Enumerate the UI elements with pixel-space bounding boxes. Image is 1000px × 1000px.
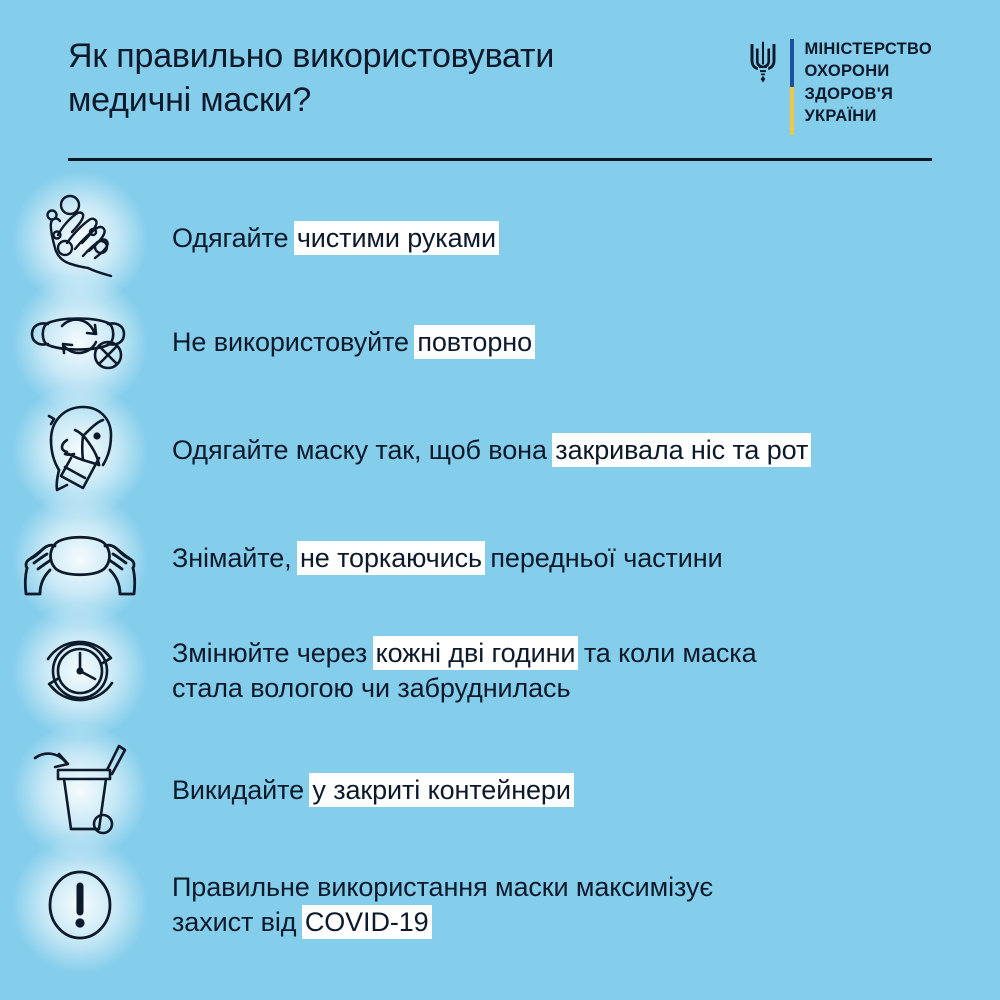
tip-line-1: Змінюйте через кожні дві години та коли … <box>172 636 970 671</box>
face-with-mask-icon <box>25 396 135 506</box>
no-reuse-mask-icon <box>20 301 140 385</box>
page-title: Як правильно використовувати медичні мас… <box>68 34 708 122</box>
list-item: Викидайте у закриті контейнери <box>0 732 1000 850</box>
tip-text-plain: Не використовуйте <box>172 327 416 357</box>
tip-text-highlight: не торкаючись <box>299 543 483 573</box>
tip-text-highlight: COVID-19 <box>304 907 430 937</box>
tip-line-1: Одягайте чистими руками <box>172 221 970 256</box>
tip-text-plain: Змінюйте через <box>172 638 375 668</box>
tip-line-2: захист від COVID-19 <box>172 905 970 940</box>
icon-cell <box>0 610 160 732</box>
tip-text-plain-tail: та коли маска <box>576 638 756 668</box>
tip-text-highlight: кожні дві години <box>375 638 577 668</box>
ukraine-trident-icon <box>746 38 780 84</box>
list-item: Правильне використання маски максимізує … <box>0 850 1000 960</box>
tip-text-plain-tail: передньої частини <box>483 543 723 573</box>
text-cell: Правильне використання маски максимізує … <box>160 870 1000 940</box>
hands-removing-mask-icon <box>19 514 141 604</box>
tip-text-highlight: повторно <box>416 327 533 357</box>
icon-cell <box>0 850 160 960</box>
list-item: Одягайте маску так, щоб вона закривала н… <box>0 393 1000 508</box>
ministry-line-2: ОХОРОНИ <box>804 60 932 82</box>
trash-bin-icon <box>25 736 135 846</box>
exclamation-circle-icon <box>30 855 130 955</box>
tips-list: Одягайте чистими руками <box>0 185 1000 960</box>
ministry-line-1: МІНІСТЕРСТВО <box>804 38 932 60</box>
tip-text-highlight: чистими руками <box>296 223 497 253</box>
list-item: Одягайте чистими руками <box>0 185 1000 293</box>
icon-cell <box>0 508 160 610</box>
ministry-line-4: УКРАЇНИ <box>804 105 932 127</box>
text-cell: Змінюйте через кожні дві години та коли … <box>160 636 1000 706</box>
text-cell: Одягайте маску так, щоб вона закривала н… <box>160 433 1000 468</box>
text-cell: Викидайте у закриті контейнери <box>160 773 1000 808</box>
tip-line-1: Одягайте маску так, щоб вона закривала н… <box>172 433 970 468</box>
tip-text-plain: захист від <box>172 907 304 937</box>
infographic-page: Як правильно використовувати медичні мас… <box>0 0 1000 1000</box>
clock-rotate-icon <box>26 619 134 723</box>
icon-cell <box>0 293 160 393</box>
text-cell: Одягайте чистими руками <box>160 221 1000 256</box>
text-cell: Не використовуйте повторно <box>160 325 1000 360</box>
list-item: Не використовуйте повторно <box>0 293 1000 393</box>
tip-text-plain: Викидайте <box>172 775 311 805</box>
tip-line-1: Не використовуйте повторно <box>172 325 970 360</box>
washing-hands-icon <box>26 191 134 287</box>
tip-text-plain: Одягайте маску так, щоб вона <box>172 435 554 465</box>
header: Як правильно використовувати медичні мас… <box>68 34 932 144</box>
tip-text-highlight: закривала ніс та рот <box>554 435 809 465</box>
ministry-name: МІНІСТЕРСТВО ОХОРОНИ ЗДОРОВ'Я УКРАЇНИ <box>804 38 932 128</box>
tip-text-plain: Одягайте <box>172 223 296 253</box>
tip-line-1: Правильне використання маски максимізує <box>172 870 970 905</box>
ministry-line-3: ЗДОРОВ'Я <box>804 83 932 105</box>
icon-cell <box>0 393 160 508</box>
tip-line-1: Знімайте, не торкаючись передньої частин… <box>172 541 970 576</box>
tip-text-highlight: у закриті контейнери <box>311 775 571 805</box>
tip-text-plain: Знімайте, <box>172 543 299 573</box>
header-divider <box>68 158 932 161</box>
ministry-logo: МІНІСТЕРСТВО ОХОРОНИ ЗДОРОВ'Я УКРАЇНИ <box>746 38 932 135</box>
icon-cell <box>0 185 160 293</box>
text-cell: Знімайте, не торкаючись передньої частин… <box>160 541 1000 576</box>
tip-line-1: Викидайте у закриті контейнери <box>172 773 970 808</box>
icon-cell <box>0 732 160 850</box>
list-item: Знімайте, не торкаючись передньої частин… <box>0 508 1000 610</box>
list-item: Змінюйте через кожні дві години та коли … <box>0 610 1000 732</box>
logo-divider-bar <box>790 39 794 135</box>
tip-line-2: стала вологою чи забруднилась <box>172 671 970 706</box>
